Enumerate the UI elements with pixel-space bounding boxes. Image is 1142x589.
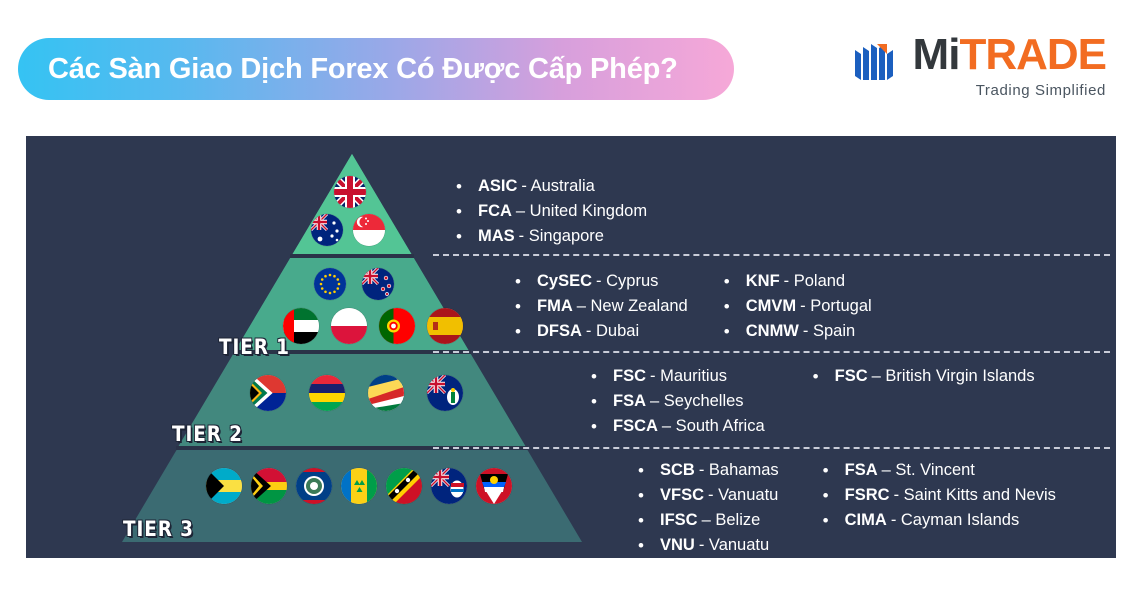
regulator-code: CNMW [746,319,799,344]
tier-3-column-2: • FSC – British Virgin Islands [813,364,1035,439]
regulator-country: - Australia [521,174,594,199]
tier-1-column-1: • ASIC - Australia • FCA – United Kingdo… [456,174,647,249]
regulator-country: – South Africa [662,414,765,439]
flag-australia [311,214,343,246]
bullet-icon: • [591,389,613,414]
regulator-country: - Poland [784,269,845,294]
regulator-code: KNF [746,269,780,294]
infographic-panel: TIER 1 TIER 2 TIER 3 TIER 4 [26,136,1116,558]
tier-label-2: TIER 2 [172,422,243,446]
tier-4-column-2: • FSA – St. Vincent • FSRC - Saint Kitts… [823,458,1056,558]
regulator-code: FSCA [613,414,658,439]
bullet-icon: • [638,508,660,533]
regulator-country: – British Virgin Islands [872,364,1035,389]
regulator-country: - Singapore [519,224,604,249]
regulator-country: - Vanuatu [699,533,769,558]
list-item: • VNU - Vanuatu [638,533,779,558]
logo-word-trade: TRADE [959,30,1106,79]
logo-wordmark: MiTRADE [913,32,1106,78]
logo-word-mi: Mi [913,30,960,79]
regulator-code: MAS [478,224,515,249]
bullet-icon: • [724,269,746,294]
regulator-country: - Cayman Islands [891,508,1019,533]
regulator-code: SCB [660,458,695,483]
regulator-country: - Vanuatu [708,483,778,508]
bullet-icon: • [823,483,845,508]
tier-4-regulator-list: • SCB - Bahamas • VFSC - Vanuatu • IFSC … [638,458,1056,558]
regulator-country: – Belize [702,508,761,533]
bullet-icon: • [638,458,660,483]
regulator-code: CIMA [845,508,887,533]
list-item: • KNF - Poland [724,269,872,294]
tier-1-flag-row-1 [334,176,366,208]
tier-4-column-1: • SCB - Bahamas • VFSC - Vanuatu • IFSC … [638,458,779,558]
tier-separator-1 [433,254,1110,256]
list-item: • ASIC - Australia [456,174,647,199]
tier-3-column-1: • FSC - Mauritius • FSA – Seychelles • F… [591,364,765,439]
regulator-code: IFSC [660,508,698,533]
bullet-icon: • [724,294,746,319]
regulator-country: – St. Vincent [882,458,975,483]
flag-spain [427,308,463,344]
flag-european-union [314,268,346,300]
flag-poland [331,308,367,344]
flag-portugal [379,308,415,344]
logo-tagline: Trading Simplified [976,82,1106,99]
regulator-code: FCA [478,199,512,224]
regulator-code: FSA [613,389,646,414]
tier-label-3: TIER 3 [123,517,194,541]
list-item: • VFSC - Vanuatu [638,483,779,508]
list-item: • FSC – British Virgin Islands [813,364,1035,389]
page-header: Các Sàn Giao Dịch Forex Có Được Cấp Phép… [0,0,1142,136]
flag-united-kingdom [334,176,366,208]
regulator-country: – United Kingdom [516,199,647,224]
flag-saint-kitts-and-nevis [386,468,422,504]
bullet-icon: • [515,294,537,319]
flag-vanuatu [251,468,287,504]
list-item: • FSA – St. Vincent [823,458,1056,483]
list-item: • FSA – Seychelles [591,389,765,414]
regulator-code: FMA [537,294,573,319]
regulator-country: - Cyprus [596,269,658,294]
flag-antigua-and-barbuda [476,468,512,504]
bullet-icon: • [638,533,660,558]
tier-2-column-2: • KNF - Poland • CMVM - Portugal • CNMW … [724,269,872,344]
bullet-icon: • [813,364,835,389]
regulator-code: CMVM [746,294,796,319]
list-item: • CySEC - Cyprus [515,269,688,294]
tier-2-column-1: • CySEC - Cyprus • FMA – New Zealand • D… [515,269,688,344]
list-item: • FSCA – South Africa [591,414,765,439]
flag-mauritius [309,375,345,411]
regulator-code: FSA [845,458,878,483]
regulator-country: – New Zealand [577,294,688,319]
regulator-code: ASIC [478,174,517,199]
regulator-code: FSC [835,364,868,389]
regulator-code: VNU [660,533,695,558]
mitrade-logo-mark-icon [847,34,905,92]
tier-separator-3 [433,447,1110,449]
flag-new-zealand [362,268,394,300]
bullet-icon: • [456,224,478,249]
bullet-icon: • [515,269,537,294]
bullet-icon: • [515,319,537,344]
list-item: • IFSC – Belize [638,508,779,533]
flag-bahamas [206,468,242,504]
bullet-icon: • [591,364,613,389]
regulator-country: - Portugal [800,294,872,319]
list-item: • FCA – United Kingdom [456,199,647,224]
tier-1-regulator-list: • ASIC - Australia • FCA – United Kingdo… [456,174,647,249]
bullet-icon: • [638,483,660,508]
flag-saint-vincent [341,468,377,504]
flag-cayman-islands [431,468,467,504]
list-item: • SCB - Bahamas [638,458,779,483]
page-title: Các Sàn Giao Dịch Forex Có Được Cấp Phép… [48,53,678,86]
regulator-code: FSRC [845,483,890,508]
list-item: • FMA – New Zealand [515,294,688,319]
regulator-code: FSC [613,364,646,389]
tier-1-flag-row-2 [311,214,385,246]
bullet-icon: • [823,458,845,483]
list-item: • DFSA - Dubai [515,319,688,344]
list-item: • FSRC - Saint Kitts and Nevis [823,483,1056,508]
list-item: • MAS - Singapore [456,224,647,249]
regulator-country: - Saint Kitts and Nevis [894,483,1056,508]
tier-2-regulator-list: • CySEC - Cyprus • FMA – New Zealand • D… [515,269,872,344]
regulator-country: - Dubai [586,319,639,344]
list-item: • CMVM - Portugal [724,294,872,319]
list-item: • CIMA - Cayman Islands [823,508,1056,533]
flag-south-africa [250,375,286,411]
regulator-country: - Bahamas [699,458,779,483]
bullet-icon: • [456,199,478,224]
flag-united-arab-emirates [283,308,319,344]
tier-3-flag-row-1 [250,375,463,411]
bullet-icon: • [456,174,478,199]
flag-british-virgin-islands [427,375,463,411]
tier-separator-2 [433,351,1110,353]
mitrade-logo: MiTRADE Trading Simplified [847,32,1106,104]
regulator-code: VFSC [660,483,704,508]
flag-seychelles [368,375,404,411]
regulator-code: CySEC [537,269,592,294]
regulator-country: - Mauritius [650,364,727,389]
tier-label-1: TIER 1 [219,335,290,359]
flag-singapore [353,214,385,246]
tier-2-flag-row-2 [283,308,463,344]
regulator-country: - Spain [803,319,855,344]
regulator-country: – Seychelles [650,389,744,414]
regulator-code: DFSA [537,319,582,344]
title-banner: Các Sàn Giao Dịch Forex Có Được Cấp Phép… [18,38,734,100]
bullet-icon: • [823,508,845,533]
list-item: • CNMW - Spain [724,319,872,344]
bullet-icon: • [591,414,613,439]
flag-belize [296,468,332,504]
tier-2-flag-row-1 [314,268,394,300]
tier-3-regulator-list: • FSC - Mauritius • FSA – Seychelles • F… [591,364,1035,439]
bullet-icon: • [724,319,746,344]
list-item: • FSC - Mauritius [591,364,765,389]
tier-4-flag-row-1 [206,468,512,504]
